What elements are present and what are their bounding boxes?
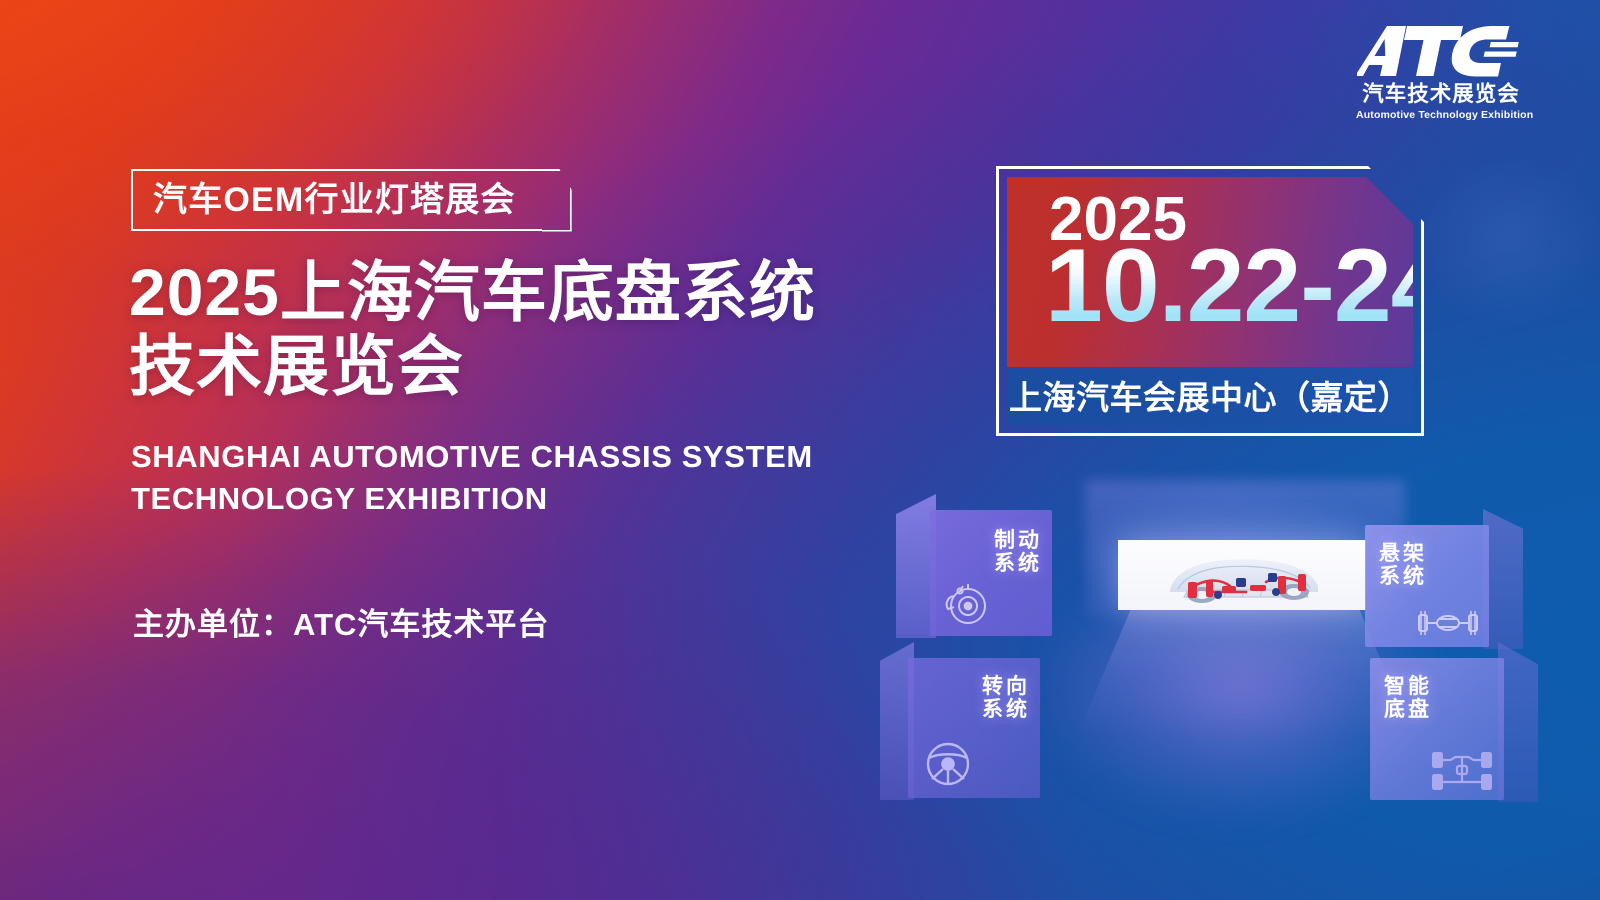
event-date-range: 10.22-24	[1045, 234, 1413, 338]
event-venue: 上海汽车会展中心（嘉定）	[1009, 381, 1411, 414]
panel-side-face	[1498, 642, 1538, 802]
tagline-text: 汽车OEM行业灯塔展会	[153, 183, 516, 217]
panel-label-brake: 制动 系统	[994, 530, 1042, 575]
brake-disc-icon	[940, 580, 992, 628]
date-venue-badge: 2025 10.22-24 上海汽车会展中心（嘉定）	[996, 166, 1424, 436]
organizer-text: 主办单位：ATC汽车技术平台	[133, 599, 549, 644]
title-line-1: 2025上海汽车底盘系统	[129, 256, 969, 330]
date-badge-top: 2025 10.22-24	[1007, 177, 1413, 367]
panel-label-smart-chassis: 智能 底盘	[1384, 676, 1432, 721]
suspension-strut-icon	[1417, 607, 1479, 639]
panel-side-face	[1483, 509, 1523, 649]
panel-label-steering: 转向 系统	[982, 676, 1030, 721]
date-badge-inner: 2025 10.22-24 上海汽车会展中心（嘉定）	[1007, 177, 1413, 425]
chassis-showcase-scene: 制动 系统 悬架 系统	[880, 470, 1600, 900]
steering-wheel-icon	[920, 736, 976, 792]
panel-suspension-system: 悬架 系统	[1365, 525, 1489, 647]
title-line-2: 技术展览会	[129, 330, 969, 404]
panel-smart-chassis: 智能 底盘	[1370, 658, 1504, 800]
center-display	[1118, 540, 1366, 610]
subtitle-line-2: TECHNOLOGY EXHIBITION	[131, 478, 961, 520]
panel-brake-system: 制动 系统	[930, 510, 1052, 636]
page-title: 2025上海汽车底盘系统 技术展览会	[129, 256, 969, 404]
panel-label-suspension: 悬架 系统	[1379, 543, 1427, 588]
atc-wordmark-icon	[1356, 22, 1526, 80]
date-badge-bottom: 上海汽车会展中心（嘉定）	[1007, 369, 1413, 425]
car-chassis-cutaway-icon	[1118, 540, 1366, 610]
page-subtitle: SHANGHAI AUTOMOTIVE CHASSIS SYSTEM TECHN…	[131, 436, 961, 520]
tagline-badge: 汽车OEM行业灯塔展会	[131, 169, 542, 231]
panel-steering-system: 转向 系统	[908, 658, 1040, 798]
atc-logo-english: Automotive Technology Exhibition	[1356, 109, 1526, 121]
chassis-axle-icon	[1430, 746, 1494, 794]
atc-logo-chinese: 汽车技术展览会	[1356, 82, 1526, 106]
subtitle-line-1: SHANGHAI AUTOMOTIVE CHASSIS SYSTEM	[131, 436, 961, 478]
event-banner: 汽车技术展览会 Automotive Technology Exhibition…	[0, 0, 1600, 900]
atc-logo: 汽车技术展览会 Automotive Technology Exhibition	[1356, 22, 1526, 121]
